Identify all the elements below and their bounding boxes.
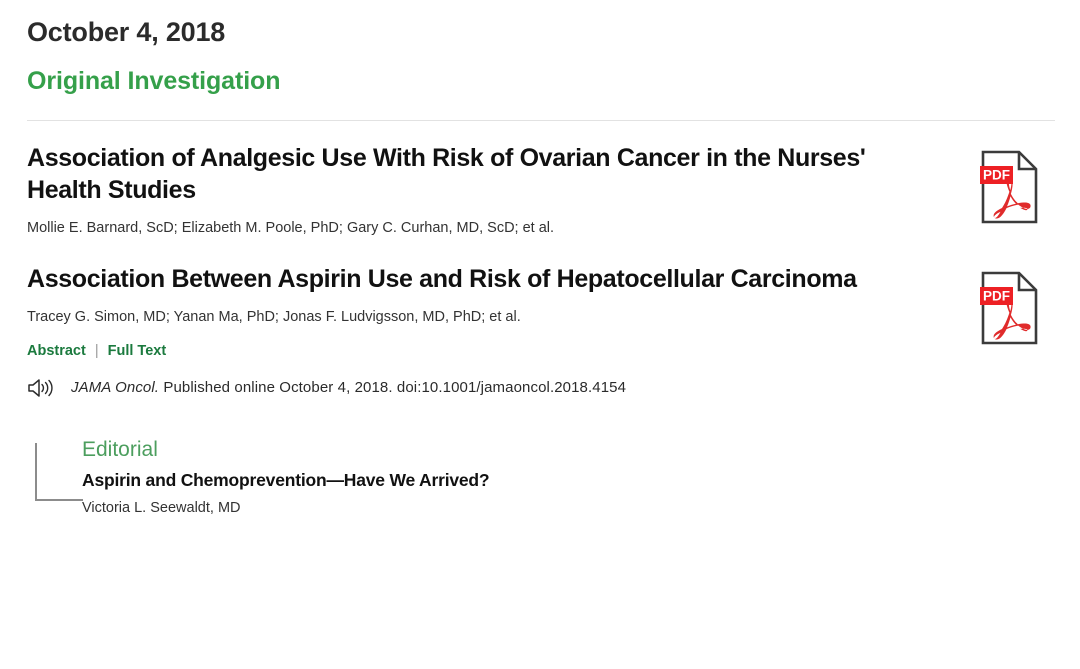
article-title-link[interactable]: Association of Analgesic Use With Risk o… — [27, 143, 923, 206]
editorial-block[interactable]: Editorial Aspirin and Chemoprevention—Ha… — [27, 437, 1053, 533]
editorial-label: Editorial — [82, 437, 1053, 462]
citation-text: JAMA Oncol. Published online October 4, … — [71, 379, 626, 396]
abstract-link[interactable]: Abstract — [27, 343, 86, 359]
citation-row: JAMA Oncol. Published online October 4, … — [27, 377, 1053, 399]
editorial-bracket — [35, 443, 83, 501]
article-entry[interactable]: Association Between Aspirin Use and Risk… — [27, 264, 1053, 327]
citation-details: Published online October 4, 2018. doi:10… — [159, 379, 626, 396]
article-entry[interactable]: Association of Analgesic Use With Risk o… — [27, 143, 1053, 237]
editorial-author: Victoria L. Seewaldt, MD — [82, 500, 1053, 516]
article-listing-page: October 4, 2018 Original Investigation A… — [0, 0, 1080, 669]
pdf-download-icon[interactable]: PDF — [979, 270, 1041, 346]
article-authors: Tracey G. Simon, MD; Yanan Ma, PhD; Jona… — [27, 308, 923, 327]
article-links-row: Abstract | Full Text — [27, 343, 1053, 359]
pdf-badge-text: PDF — [983, 168, 1010, 183]
pdf-badge-text: PDF — [983, 288, 1010, 303]
citation-journal: JAMA Oncol. — [71, 379, 159, 396]
article-authors: Mollie E. Barnard, ScD; Elizabeth M. Poo… — [27, 219, 923, 238]
full-text-link[interactable]: Full Text — [108, 343, 167, 359]
article-title-link[interactable]: Association Between Aspirin Use and Risk… — [27, 264, 923, 295]
issue-date: October 4, 2018 — [27, 0, 1053, 48]
article-type-heading: Original Investigation — [27, 66, 1053, 96]
pdf-download-icon[interactable]: PDF — [979, 149, 1041, 225]
section-divider — [27, 120, 1055, 121]
link-separator: | — [95, 343, 99, 359]
speaker-icon[interactable] — [27, 377, 57, 399]
editorial-title-link[interactable]: Aspirin and Chemoprevention—Have We Arri… — [82, 470, 1053, 491]
